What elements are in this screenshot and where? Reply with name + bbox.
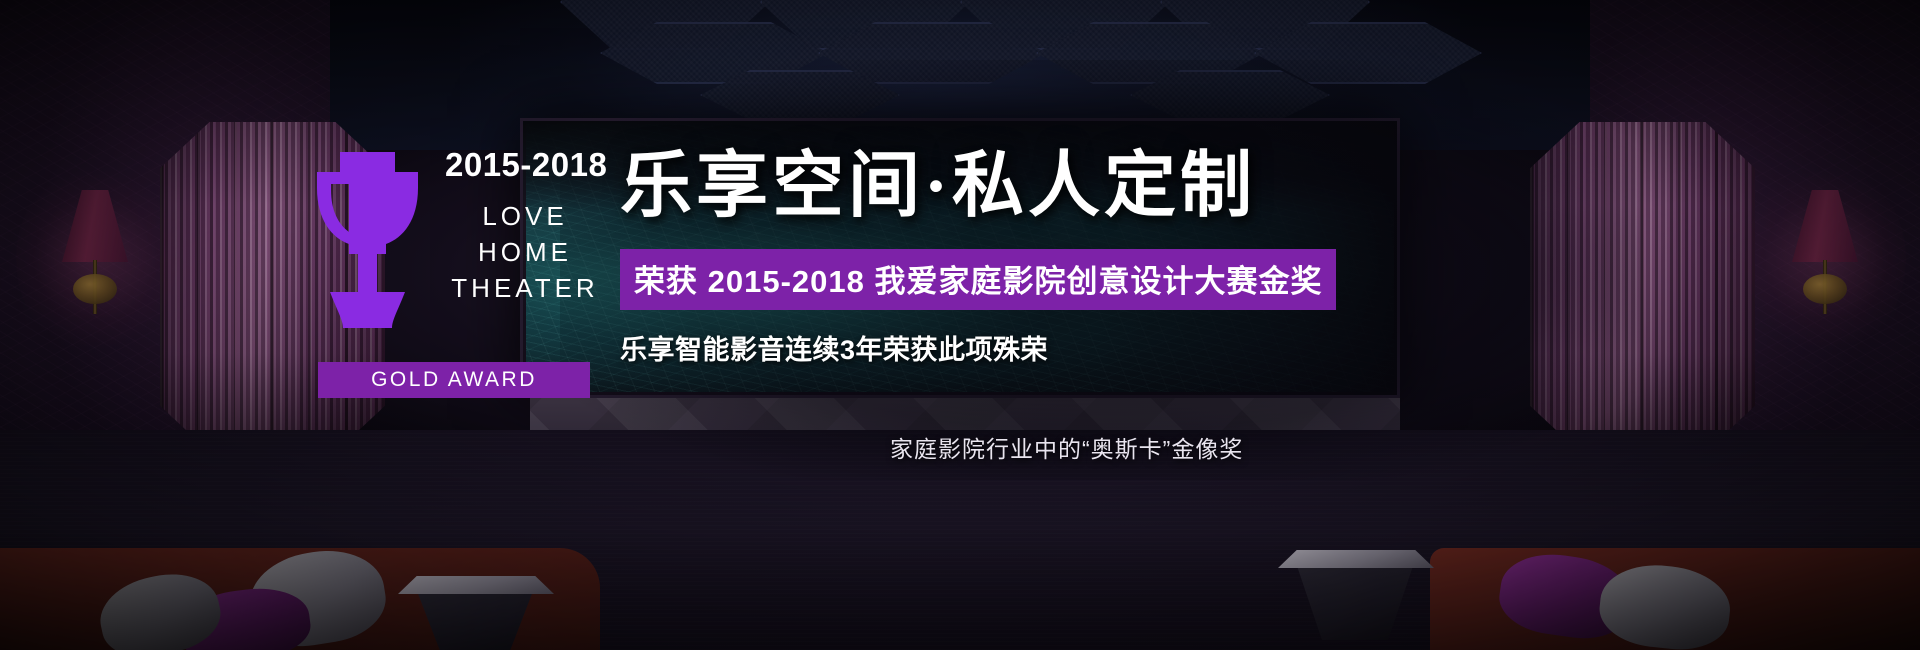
award-text-block: 2015-2018 LOVE HOME THEATER (445, 148, 605, 307)
gold-award-bar: GOLD AWARD (318, 362, 590, 398)
home-theater-award-banner: 2015-2018 LOVE HOME THEATER GOLD AWARD 乐… (0, 0, 1920, 650)
gold-award-label: GOLD AWARD (371, 368, 537, 392)
award-org-line-3: THEATER (445, 271, 605, 307)
marketing-copy: 乐享空间·私人定制 荣获 2015-2018 我爱家庭影院创意设计大赛金奖 乐享… (620, 150, 1320, 367)
banner-content: 2015-2018 LOVE HOME THEATER GOLD AWARD 乐… (0, 0, 1920, 650)
page-title: 乐享空间·私人定制 (620, 150, 1320, 222)
award-caption: 家庭影院行业中的“奥斯卡”金像奖 (890, 430, 1243, 464)
award-years: 2015-2018 (445, 148, 605, 181)
trophy-icon (300, 150, 435, 340)
award-banner-text: 荣获 2015-2018 我爱家庭影院创意设计大赛金奖 (634, 264, 1322, 299)
award-subline: 乐享智能影音连续3年荣获此项殊荣 (620, 328, 1320, 367)
award-highlight-banner: 荣获 2015-2018 我爱家庭影院创意设计大赛金奖 (620, 249, 1336, 310)
award-org-name: LOVE HOME THEATER (445, 199, 605, 307)
award-org-line-2: HOME (445, 235, 605, 271)
award-org-line-1: LOVE (445, 199, 605, 235)
award-badge: 2015-2018 LOVE HOME THEATER GOLD AWARD (300, 140, 600, 440)
